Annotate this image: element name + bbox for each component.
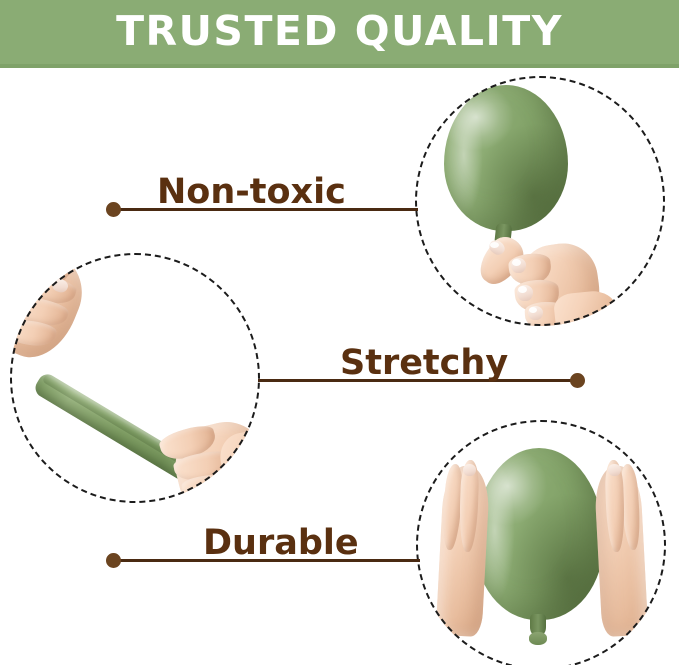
photo-circle-outline-bottom-right: [416, 420, 666, 665]
feature-label-durable: Durable: [203, 523, 359, 563]
connector-dot-non-toxic: [106, 202, 121, 217]
feature-label-non-toxic: Non-toxic: [157, 172, 346, 212]
feature-label-stretchy: Stretchy: [340, 343, 508, 383]
header-band-bottom-edge: [0, 64, 679, 68]
connector-dot-durable: [106, 553, 121, 568]
page-title: TRUSTED QUALITY: [0, 0, 679, 64]
infographic-page: TRUSTED QUALITY: [0, 0, 679, 665]
connector-dot-stretchy: [570, 373, 585, 388]
photo-circle-outline-middle-left: [10, 253, 260, 503]
photo-circle-outline-top-right: [415, 76, 665, 326]
